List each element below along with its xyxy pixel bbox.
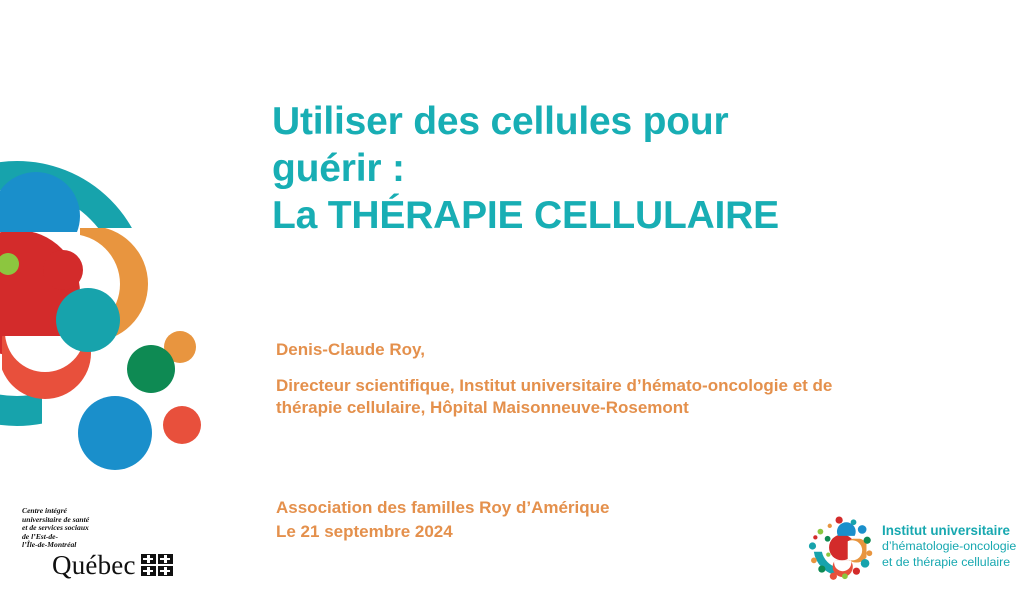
author-block: Denis-Claude Roy, Directeur scientifique… <box>276 339 896 419</box>
quebec-flag-icon <box>141 554 156 564</box>
author-name: Denis-Claude Roy, <box>276 339 896 361</box>
title-line-1: Utiliser des cellules pour <box>272 98 972 145</box>
institut-logo-text: Institut universitaire d’hématologie-onc… <box>882 522 1016 570</box>
author-role: Directeur scientifique, Institut univers… <box>276 375 896 419</box>
page-title: Utiliser des cellules pour guérir : La T… <box>272 98 972 239</box>
title-line-2: guérir : <box>272 145 972 192</box>
quebec-flag-icon <box>158 566 173 576</box>
event-date: Le 21 septembre 2024 <box>276 520 876 544</box>
quebec-flag-icon <box>141 566 156 576</box>
institut-logo-line-3: et de thérapie cellulaire <box>882 555 1016 571</box>
quebec-tagline-line-5: l’Île-de-Montréal <box>22 541 192 550</box>
institut-logo-line-2: d’hématologie-oncologie <box>882 539 1016 555</box>
institut-logo-line-1: Institut universitaire <box>882 523 1016 539</box>
title-line-3: La THÉRAPIE CELLULAIRE <box>272 192 972 239</box>
quebec-flag-icons <box>141 554 173 576</box>
presentation-slide: Utiliser des cellules pour guérir : La T… <box>0 0 1024 590</box>
quebec-tagline: Centre intégré universitaire de santé et… <box>16 507 192 550</box>
institut-universitaire-logo: Institut universitaire d’hématologie-onc… <box>806 508 1018 584</box>
quebec-flag-icon <box>158 554 173 564</box>
cell-cluster-graphic <box>0 108 242 478</box>
quebec-wordmark-row: Québec <box>16 551 192 579</box>
event-organization: Association des familles Roy d’Amérique <box>276 496 876 520</box>
cell-cluster-emblem-icon <box>806 510 878 582</box>
event-block: Association des familles Roy d’Amérique … <box>276 496 876 544</box>
quebec-government-logo: Centre intégré universitaire de santé et… <box>16 507 192 583</box>
quebec-wordmark: Québec <box>52 551 136 579</box>
